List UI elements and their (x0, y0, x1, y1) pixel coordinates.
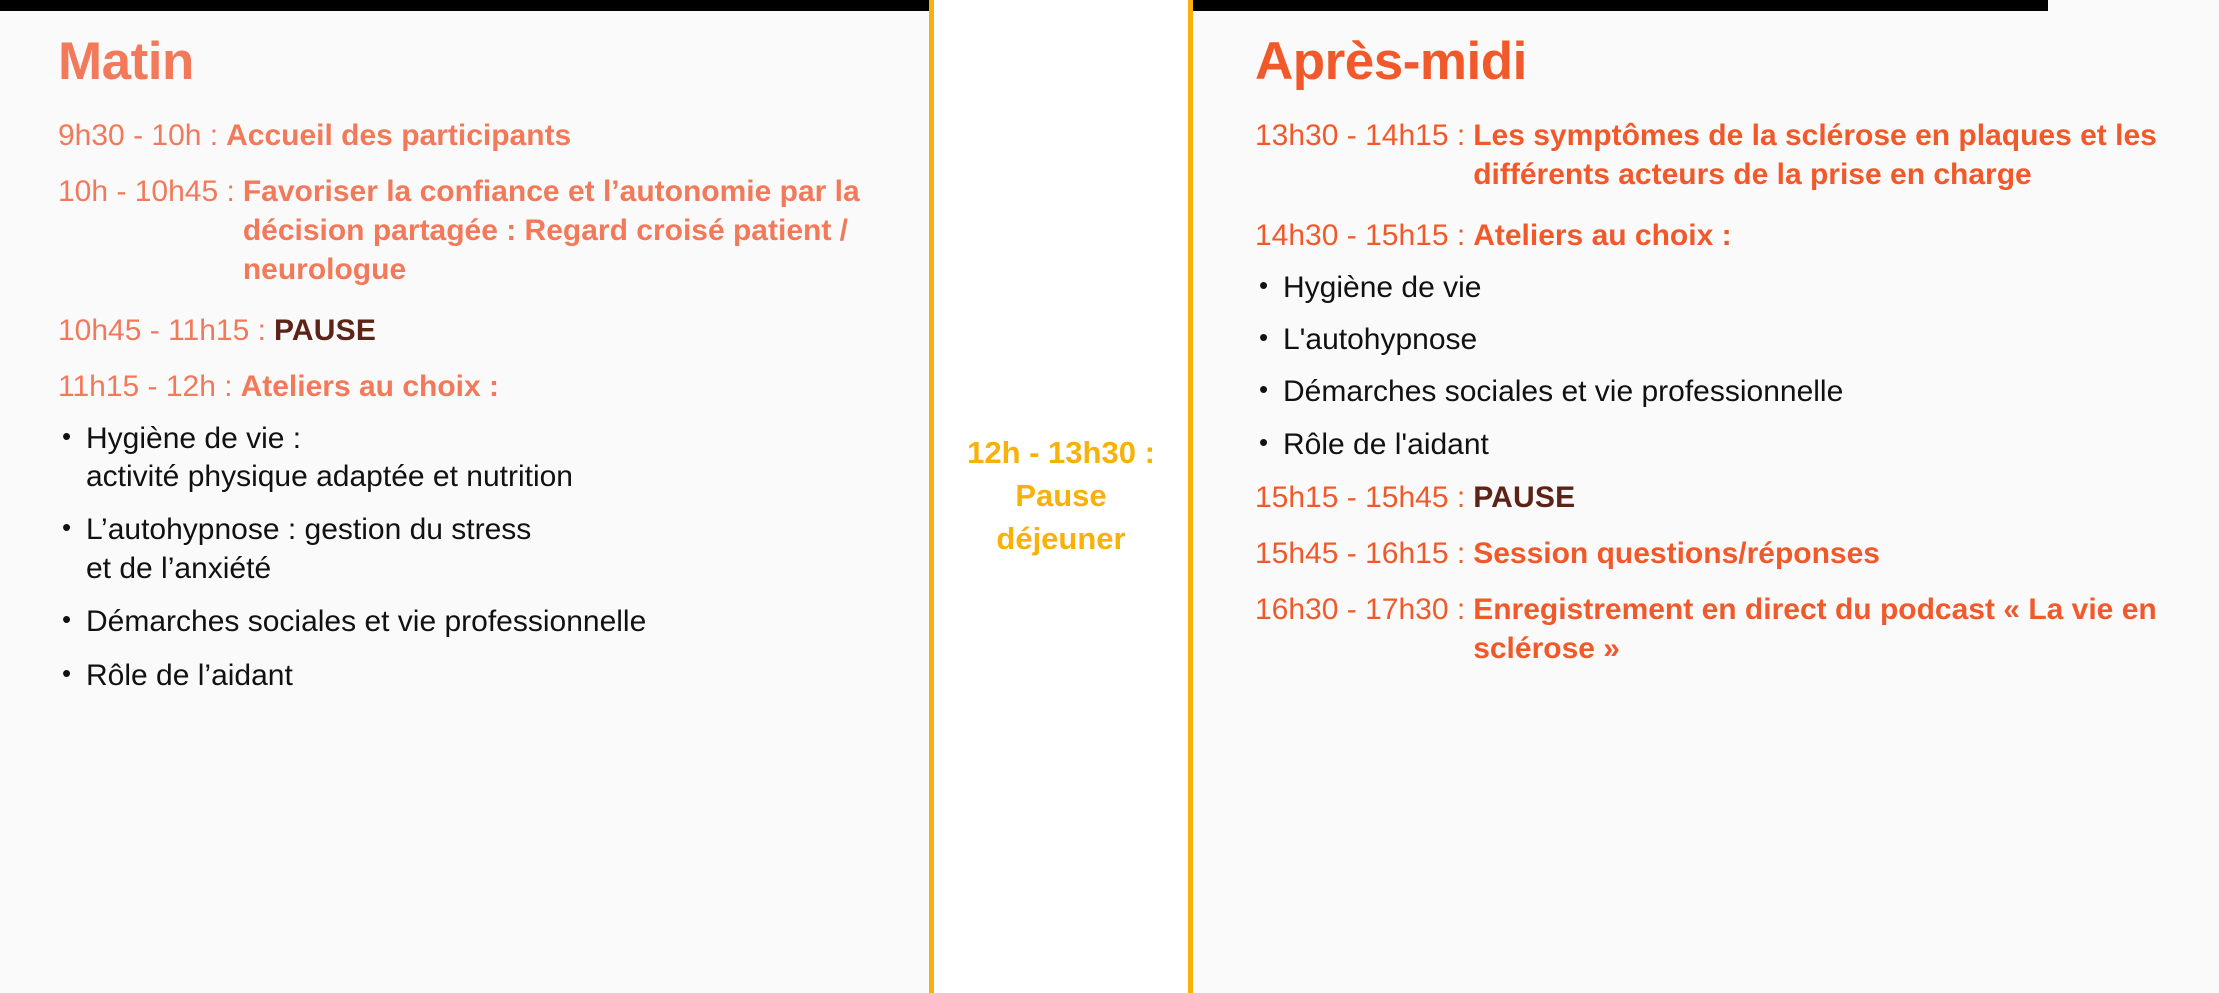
schedule-row-afternoon-qa: 15h45 - 16h15 : Session questions/répons… (1255, 534, 2195, 573)
list-item: Hygiène de vie (1257, 269, 2195, 307)
list-item-main: Démarches sociales et vie professionnell… (1283, 375, 1843, 408)
session-title: Favoriser la confiance et l’autonomie pa… (243, 172, 899, 289)
list-item: Rôle de l'aidant (1257, 426, 2195, 464)
list-item: Démarches sociales et vie professionnell… (60, 603, 899, 641)
list-item-main: Hygiène de vie (1283, 271, 1481, 304)
lunch-break-block: 12h - 13h30 : Pause déjeuner (930, 0, 1192, 993)
list-item-sub: et de l’anxiété (86, 550, 899, 588)
time-label: 15h45 - 16h15 : (1255, 534, 1465, 573)
programme-page: Matin 9h30 - 10h : Accueil des participa… (0, 0, 2219, 993)
morning-column: Matin 9h30 - 10h : Accueil des participa… (0, 0, 929, 710)
session-title: Session questions/réponses (1473, 534, 1880, 573)
schedule-row-morning-pause: 10h45 - 11h15 : PAUSE (58, 311, 899, 350)
session-title: Les symptômes de la sclérose en plaques … (1473, 116, 2195, 194)
lunch-label-line2: déjeuner (967, 518, 1155, 561)
time-label: 10h - 10h45 : (58, 172, 235, 211)
list-item-main: Rôle de l'aidant (1283, 428, 1489, 461)
list-item: Hygiène de vie : activité physique adapt… (60, 420, 899, 497)
list-item: L'autohypnose (1257, 321, 2195, 359)
list-item: L’autohypnose : gestion du stress et de … (60, 511, 899, 588)
list-item: Rôle de l’aidant (60, 657, 899, 695)
afternoon-workshop-list: Hygiène de vie L'autohypnose Démarches s… (1257, 269, 2195, 465)
lunch-label-line1: Pause (967, 475, 1155, 518)
session-title: Enregistrement en direct du podcast « La… (1473, 590, 2195, 668)
time-label: 10h45 - 11h15 : (58, 311, 266, 350)
time-label: 9h30 - 10h : (58, 116, 218, 155)
schedule-row-afternoon-workshops: 14h30 - 15h15 : Ateliers au choix : (1255, 216, 2195, 255)
lunch-break-text: 12h - 13h30 : Pause déjeuner (957, 432, 1165, 560)
list-item-main: Hygiène de vie : (86, 422, 301, 455)
schedule-row-afternoon-pause: 15h15 - 15h45 : PAUSE (1255, 478, 2195, 517)
schedule-row-morning-workshops: 11h15 - 12h : Ateliers au choix : (58, 367, 899, 406)
session-title: Accueil des participants (226, 116, 571, 155)
morning-workshop-list: Hygiène de vie : activité physique adapt… (60, 420, 899, 695)
schedule-row-afternoon-podcast: 16h30 - 17h30 : Enregistrement en direct… (1255, 590, 2195, 668)
afternoon-column: Après-midi 13h30 - 14h15 : Les symptômes… (1193, 0, 2219, 685)
time-label: 14h30 - 15h15 : (1255, 216, 1465, 255)
session-title: Ateliers au choix : (1473, 216, 1731, 255)
schedule-row-morning-1: 9h30 - 10h : Accueil des participants (58, 116, 899, 155)
time-label: 15h15 - 15h45 : (1255, 478, 1465, 517)
session-title: Ateliers au choix : (241, 367, 499, 406)
schedule-row-morning-2: 10h - 10h45 : Favoriser la confiance et … (58, 172, 899, 289)
pause-label: PAUSE (1473, 478, 1575, 517)
pause-label: PAUSE (274, 311, 376, 350)
morning-heading: Matin (58, 34, 899, 90)
time-label: 11h15 - 12h : (58, 367, 233, 406)
schedule-row-afternoon-1: 13h30 - 14h15 : Les symptômes de la sclé… (1255, 116, 2195, 194)
list-item-main: L'autohypnose (1283, 323, 1477, 356)
list-item-sub: activité physique adaptée et nutrition (86, 458, 899, 496)
list-item-main: L’autohypnose : gestion du stress (86, 513, 531, 546)
list-item: Démarches sociales et vie professionnell… (1257, 373, 2195, 411)
time-label: 16h30 - 17h30 : (1255, 590, 1465, 629)
lunch-time: 12h - 13h30 : (967, 432, 1155, 475)
list-item-main: Rôle de l’aidant (86, 659, 293, 692)
time-label: 13h30 - 14h15 : (1255, 116, 1465, 155)
afternoon-heading: Après-midi (1255, 34, 2195, 90)
list-item-main: Démarches sociales et vie professionnell… (86, 605, 646, 638)
